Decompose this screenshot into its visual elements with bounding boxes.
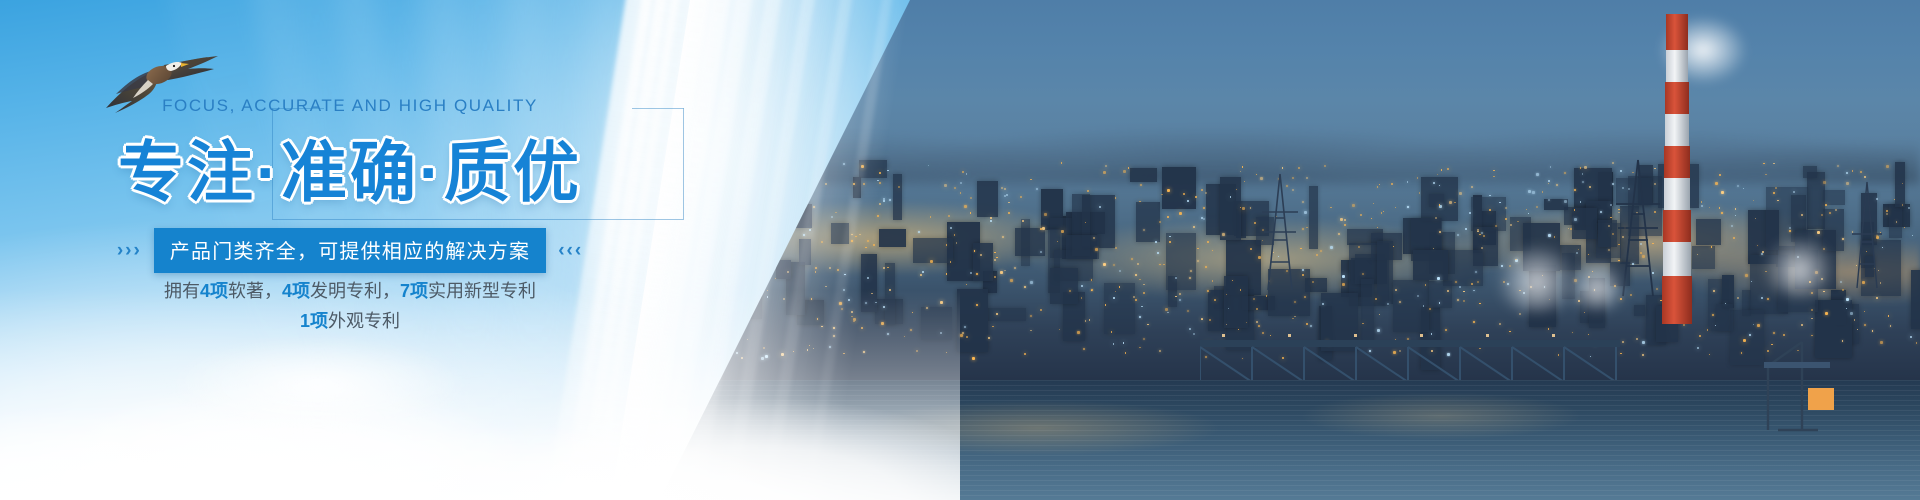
city-light [1493,170,1495,172]
city-light [1712,314,1714,316]
city-light [1532,191,1535,194]
city-light [809,345,811,347]
city-light [1852,170,1854,172]
banner-hero: FOCUS, ACCURATE AND HIGH QUALITY 专注·准确·质… [0,0,1920,500]
city-light [1250,248,1252,250]
building [1309,186,1319,249]
city-light [1556,184,1558,186]
city-light [1526,209,1528,211]
city-light [1143,284,1145,286]
city-light [1850,312,1853,315]
city-light [1179,299,1181,301]
city-light [1302,228,1304,230]
city-light [1179,293,1181,295]
city-light [1371,218,1373,220]
city-light [1115,247,1117,249]
city-light [1876,297,1878,299]
city-light [889,199,891,201]
city-light [841,308,843,310]
building [1162,167,1196,209]
city-light [803,234,805,236]
city-light [1846,308,1848,310]
city-light [1089,319,1091,321]
city-light [877,215,879,217]
city-light [815,267,817,269]
city-light [1840,281,1842,283]
city-light [1375,298,1377,300]
city-light [1463,291,1465,293]
city-light [1435,217,1437,219]
city-light [1169,236,1171,238]
city-light [1024,353,1026,355]
city-light [1765,174,1767,176]
city-light [1077,331,1080,334]
city-light [960,182,962,184]
city-light [763,347,765,349]
city-light [855,236,857,238]
building [988,308,1026,321]
city-light [1731,225,1733,227]
city-light [1846,182,1849,185]
city-light [1517,221,1519,223]
city-light [1612,183,1614,185]
building [1413,250,1448,281]
city-light [928,165,930,167]
city-light [1091,279,1093,281]
patent-count-invention: 4项 [282,281,310,301]
city-light [879,172,881,174]
city-light [1024,286,1026,288]
city-light [1140,184,1142,186]
city-light [1358,246,1360,248]
city-light [851,234,853,236]
building [921,307,952,340]
city-light [1811,318,1813,320]
city-light [964,326,966,328]
city-light [1622,341,1624,343]
patent-label-design: 外观专利 [328,311,400,331]
city-light [1890,325,1892,327]
city-light [1825,204,1827,206]
city-light [1306,227,1308,229]
building [973,243,993,282]
city-light [1737,185,1739,187]
city-light [1193,226,1195,228]
city-light [1570,228,1572,230]
striped-chimney [1660,14,1694,324]
city-light [990,220,992,222]
city-light [1499,323,1501,325]
city-light [1441,169,1443,171]
city-light [1133,296,1135,298]
city-light [1139,316,1141,318]
city-light [1294,316,1296,318]
city-light [1310,325,1312,327]
water-reflection [660,380,1920,500]
city-light [843,353,845,355]
city-light [1721,212,1723,214]
building [853,177,861,199]
city-light [1475,271,1477,273]
city-light [994,259,996,261]
city-light [1228,308,1230,310]
city-light [948,215,950,217]
city-light [1536,173,1539,176]
city-light [1479,303,1481,305]
city-light [1608,225,1610,227]
city-light [1912,235,1914,237]
city-light [1201,318,1203,320]
building [957,289,987,352]
pylon-icon [1850,180,1884,290]
city-light [861,327,863,329]
city-light [920,274,922,276]
city-light [1161,194,1163,196]
city-light [848,299,850,301]
city-light [741,357,743,359]
city-light [829,267,831,269]
city-light [1481,232,1483,234]
city-light [1030,315,1032,317]
city-light [1179,212,1182,215]
city-light [1888,315,1890,317]
city-light [1030,330,1032,332]
city-light [839,302,842,305]
city-light [996,313,998,315]
city-light [1302,201,1304,203]
city-light [1155,241,1157,243]
city-light [1407,206,1409,208]
city-light [1564,200,1567,203]
city-light [781,353,784,356]
city-light [821,241,823,243]
city-light [966,284,968,286]
pylon-icon [1260,172,1300,292]
city-light [1123,170,1126,173]
city-light [1167,312,1169,314]
city-light [1014,267,1016,269]
city-light [1157,252,1159,254]
city-light [1542,191,1544,193]
city-light [1864,324,1866,326]
city-light [793,351,795,353]
city-light [1528,190,1531,193]
city-light [1801,214,1803,216]
city-light [912,312,914,314]
city-light [1449,201,1452,204]
city-light [1197,248,1199,250]
band-row: ››› 产品门类齐全，可提供相应的解决方案 ‹‹‹ [0,228,700,273]
city-light [1715,182,1718,185]
patent-count-software: 4项 [200,281,228,301]
city-light [1383,211,1385,213]
city-light [1880,341,1883,344]
building [879,229,906,247]
city-light [807,349,809,351]
city-light [1139,347,1141,349]
city-light [1481,247,1483,249]
city-light [1620,353,1622,355]
city-light [1860,171,1862,173]
city-light [1344,219,1346,221]
city-light [1457,234,1459,236]
city-light [1554,236,1556,238]
city-light [1735,215,1737,217]
city-light [825,183,827,185]
city-light [1212,250,1214,252]
city-light [1763,163,1765,165]
city-light [1324,165,1326,167]
city-light [1574,218,1577,221]
city-light [1463,300,1465,302]
city-light [1352,204,1355,207]
city-light [1701,205,1703,207]
city-light [1610,217,1612,219]
city-light [1300,248,1302,250]
city-light [1636,338,1638,340]
building [1572,208,1597,239]
city-light [1119,270,1121,272]
city-light [1205,266,1207,268]
city-light [1910,336,1912,338]
city-light [1697,347,1699,349]
city-light [1139,279,1141,281]
dock-crane-icon [1748,332,1858,432]
city-light [1244,181,1246,183]
city-light [964,205,967,208]
city-light [1757,324,1760,327]
city-light [1854,319,1856,321]
city-light [765,355,768,358]
city-light [1495,225,1497,227]
city-light [970,212,972,214]
patent-line-2: 1项外观专利 [0,306,700,336]
city-light [966,336,968,338]
city-light [1707,329,1709,331]
city-light [962,171,964,173]
city-light [1719,207,1721,209]
city-light [910,329,912,331]
city-light [1457,299,1459,301]
city-light [1459,286,1461,288]
city-light [1417,177,1419,179]
city-light [1743,188,1745,190]
city-light [1036,188,1038,190]
building [1692,246,1715,269]
city-light [972,357,975,360]
city-light [1471,186,1473,188]
city-light [1137,263,1139,265]
city-light [1203,218,1205,220]
city-light [930,260,933,263]
city-light [1113,343,1115,345]
city-light [1753,200,1755,202]
city-light [767,290,769,292]
city-light [1761,253,1763,255]
city-light [1253,298,1255,300]
chevron-right-icon: ››› [117,240,142,262]
patent-pre: 拥有 [164,281,200,301]
city-light [1477,281,1479,283]
building [913,238,953,263]
city-light [1733,237,1735,239]
city-light [736,352,738,354]
city-light [1886,165,1889,168]
city-light [1773,192,1775,194]
city-light [1193,333,1195,335]
steam-puff [1565,262,1629,310]
building [885,263,895,325]
city-light [1608,249,1610,251]
city-light [783,298,785,300]
city-light [1004,188,1006,190]
city-light [1407,181,1409,183]
city-light [1823,291,1825,293]
city-light [1197,260,1199,262]
city-light [1846,298,1849,301]
building [1823,190,1845,204]
city-light [843,163,845,165]
city-light [851,240,853,242]
city-light [825,286,827,288]
city-light [1536,206,1538,208]
city-light [1743,339,1746,342]
city-light [1330,207,1332,209]
city-light [1304,211,1307,214]
city-light [1212,280,1214,282]
city-light [1528,213,1530,215]
city-light [1069,290,1071,292]
city-light [1745,274,1748,277]
patent-label-software: 软著， [228,281,282,301]
city-light [1437,174,1439,176]
city-light [1242,166,1244,168]
city-light [844,274,846,276]
city-light [1360,214,1362,216]
city-light [946,352,948,354]
city-light [1489,195,1491,197]
city-light [1395,207,1397,209]
city-light [950,227,952,229]
city-light [1298,167,1300,169]
city-light [829,346,831,348]
city-light [1473,290,1475,292]
city-light [1381,212,1383,214]
city-light [867,240,869,242]
city-light [863,183,865,185]
city-light [1548,234,1551,237]
banner-copy: FOCUS, ACCURATE AND HIGH QUALITY 专注·准确·质… [0,0,700,500]
city-light [940,301,943,304]
city-light [1159,350,1161,352]
city-light [1095,248,1098,251]
city-light [966,173,968,175]
city-light [1256,308,1258,310]
city-light [1061,162,1063,164]
city-light [1454,202,1456,204]
city-light [1006,194,1008,196]
city-light [1469,212,1471,214]
city-light [1001,187,1003,189]
city-light [1087,190,1089,192]
city-light [1135,299,1137,301]
city-light [1083,348,1085,350]
building [1130,168,1157,182]
city-light [1306,177,1308,179]
solution-band: 产品门类齐全，可提供相应的解决方案 [154,228,546,273]
city-light [1697,254,1699,256]
city-light [1713,290,1715,292]
city-light [1040,251,1042,253]
city-light [1519,313,1521,315]
city-light [1159,264,1161,266]
city-light [1059,329,1061,331]
city-light [1338,233,1340,235]
city-light [1330,246,1333,249]
city-light [960,334,963,337]
city-light [1091,289,1093,291]
building [1716,304,1733,331]
city-light [813,348,815,350]
page-title: 专注·准确·质优 [0,119,700,215]
building [893,174,902,220]
city-light [1737,297,1739,299]
city-light [1373,203,1375,205]
building [1429,281,1451,307]
city-light [775,278,777,280]
city-light [1187,310,1189,312]
city-light [1379,314,1381,316]
city-light [879,182,881,184]
city-light [1837,165,1839,167]
city-light [1574,189,1576,191]
city-light [1258,325,1260,327]
city-light [747,339,749,341]
building [1050,268,1079,304]
english-tagline: FOCUS, ACCURATE AND HIGH QUALITY [0,96,700,116]
city-light [1008,202,1010,204]
city-light [1302,274,1304,276]
city-light [1143,292,1145,294]
city-light [1135,274,1137,276]
city-light [883,200,885,202]
city-light [1550,166,1552,168]
city-light [1872,330,1874,332]
city-light [1230,196,1232,198]
city-light [1344,224,1346,226]
city-light [1379,184,1381,186]
building [1104,283,1135,334]
city-light [926,307,928,309]
city-light [809,229,811,231]
city-light [815,271,817,273]
city-light [1123,342,1125,344]
city-light [1165,308,1168,311]
city-light [976,273,978,275]
city-light [1040,309,1042,311]
city-light [1167,216,1169,218]
patent-label-utility: 实用新型专利 [428,281,536,301]
city-light [1773,163,1775,165]
city-light [1113,297,1115,299]
city-light [865,302,867,304]
city-light [1113,264,1115,266]
building [831,223,849,243]
city-light [1864,176,1866,178]
city-light [1189,328,1191,330]
city-light [1459,192,1462,195]
city-light [1103,171,1106,174]
